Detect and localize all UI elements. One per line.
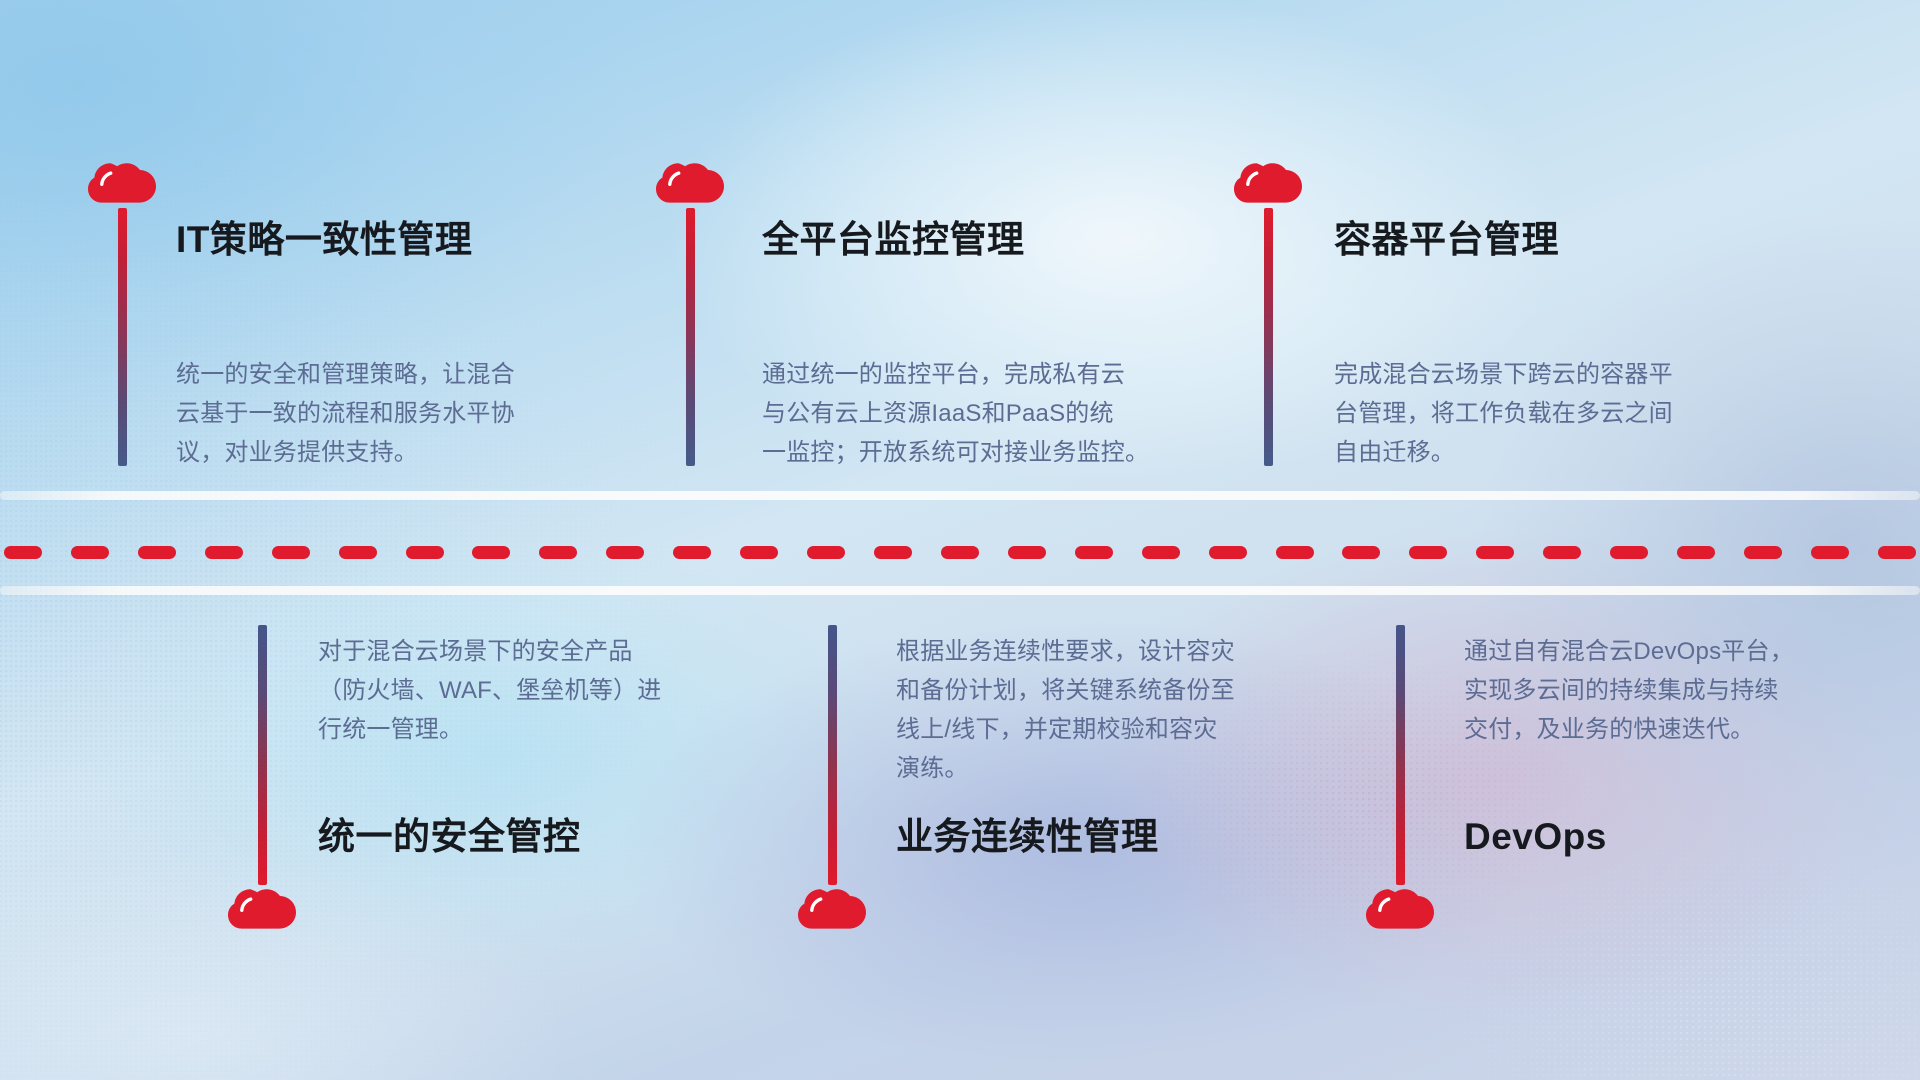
card-body-line: 和备份计划，将关键系统备份至 (896, 672, 1235, 711)
pin-marker-unified-security-control (228, 888, 296, 938)
card-body-line: 根据业务连续性要求，设计容灾 (896, 633, 1235, 672)
card-body-line: 行统一管理。 (318, 711, 661, 750)
pin-stem-unified-security-control (258, 625, 267, 885)
pin-stem-business-continuity (828, 625, 837, 885)
road-dash (740, 546, 778, 559)
road-dash (673, 546, 711, 559)
road-dash (406, 546, 444, 559)
road-dash (71, 546, 109, 559)
card-body-line: 对于混合云场景下的安全产品 (318, 633, 661, 672)
cloud-icon (1366, 888, 1434, 938)
card-body-business-continuity: 根据业务连续性要求，设计容灾和备份计划，将关键系统备份至线上/线下，并定期校验和… (896, 633, 1235, 789)
road-dash (1342, 546, 1380, 559)
card-body-line: （防火墙、WAF、堡垒机等）进 (318, 672, 661, 711)
cloud-icon (1234, 162, 1302, 212)
card-body-line: 与公有云上资源IaaS和PaaS的统 (762, 395, 1149, 434)
card-body-line: 交付，及业务的快速迭代。 (1464, 711, 1794, 750)
road-dash (1209, 546, 1247, 559)
pin-marker-it-policy-consistency (88, 162, 156, 212)
road-dash (1075, 546, 1113, 559)
card-body-line: 实现多云间的持续集成与持续 (1464, 672, 1794, 711)
card-body-line: 线上/线下，并定期校验和容灾 (896, 711, 1235, 750)
pin-marker-full-platform-monitoring (656, 162, 724, 212)
road-dash (941, 546, 979, 559)
pin-marker-devops (1366, 888, 1434, 938)
card-title-it-policy-consistency: IT策略一致性管理 (176, 218, 472, 262)
card-title-business-continuity: 业务连续性管理 (896, 815, 1159, 859)
card-title-container-platform: 容器平台管理 (1334, 218, 1559, 262)
card-title-devops: DevOps (1464, 815, 1607, 859)
road-dash (1276, 546, 1314, 559)
pin-stem-devops (1396, 625, 1405, 885)
road-dash (606, 546, 644, 559)
road-dash (807, 546, 845, 559)
card-body-line: 一监控；开放系统可对接业务监控。 (762, 434, 1149, 473)
card-title-full-platform-monitoring: 全平台监控管理 (762, 218, 1025, 262)
cloud-icon (228, 888, 296, 938)
card-body-line: 完成混合云场景下跨云的容器平 (1334, 356, 1673, 395)
card-title-unified-security-control: 统一的安全管控 (318, 815, 581, 859)
road-dash (138, 546, 176, 559)
pin-stem-it-policy-consistency (118, 208, 127, 466)
road-dash (472, 546, 510, 559)
road-edge-bottom (0, 586, 1920, 595)
card-body-line: 演练。 (896, 750, 1235, 789)
road-dash (1008, 546, 1046, 559)
infographic-canvas: IT策略一致性管理统一的安全和管理策略，让混合云基于一致的流程和服务水平协议，对… (0, 0, 1920, 1080)
road-center-dashes (0, 545, 1920, 559)
card-body-line: 议，对业务提供支持。 (176, 434, 515, 473)
road-dash (1142, 546, 1180, 559)
road-dash (1811, 546, 1849, 559)
road-dash (874, 546, 912, 559)
pin-stem-full-platform-monitoring (686, 208, 695, 466)
card-body-full-platform-monitoring: 通过统一的监控平台，完成私有云与公有云上资源IaaS和PaaS的统一监控；开放系… (762, 356, 1149, 473)
pin-marker-container-platform (1234, 162, 1302, 212)
card-body-line: 台管理，将工作负载在多云之间 (1334, 395, 1673, 434)
cloud-icon (88, 162, 156, 212)
road-dash (1878, 546, 1916, 559)
road-dash (1543, 546, 1581, 559)
card-body-line: 通过统一的监控平台，完成私有云 (762, 356, 1149, 395)
road-dash (272, 546, 310, 559)
cloud-icon (656, 162, 724, 212)
road-dash (4, 546, 42, 559)
road-edge-top (0, 491, 1920, 500)
pin-marker-business-continuity (798, 888, 866, 938)
road-dash (539, 546, 577, 559)
road-dash (1476, 546, 1514, 559)
road-dash (339, 546, 377, 559)
road-dash (205, 546, 243, 559)
card-body-container-platform: 完成混合云场景下跨云的容器平台管理，将工作负载在多云之间自由迁移。 (1334, 356, 1673, 473)
road-dash (1610, 546, 1648, 559)
road-dash (1677, 546, 1715, 559)
card-body-unified-security-control: 对于混合云场景下的安全产品（防火墙、WAF、堡垒机等）进行统一管理。 (318, 633, 661, 750)
road-dash (1409, 546, 1447, 559)
card-body-it-policy-consistency: 统一的安全和管理策略，让混合云基于一致的流程和服务水平协议，对业务提供支持。 (176, 356, 515, 473)
card-body-devops: 通过自有混合云DevOps平台，实现多云间的持续集成与持续交付，及业务的快速迭代… (1464, 633, 1794, 750)
card-body-line: 通过自有混合云DevOps平台， (1464, 633, 1794, 672)
card-body-line: 云基于一致的流程和服务水平协 (176, 395, 515, 434)
road-dash (1744, 546, 1782, 559)
card-body-line: 自由迁移。 (1334, 434, 1673, 473)
cloud-icon (798, 888, 866, 938)
card-body-line: 统一的安全和管理策略，让混合 (176, 356, 515, 395)
pin-stem-container-platform (1264, 208, 1273, 466)
